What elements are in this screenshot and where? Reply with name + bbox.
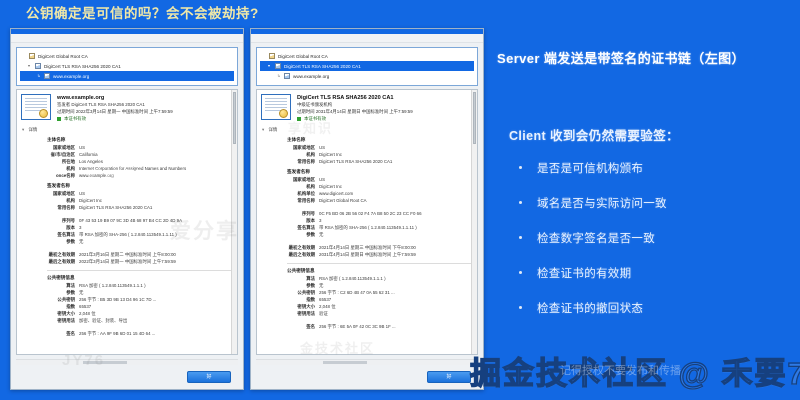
slide-title: 公钥确定是可信的吗？会不会被劫持? (26, 2, 259, 22)
tree-twisty-icon[interactable]: ▾ (28, 64, 32, 68)
certificate-common-name: www.example.org (57, 94, 232, 102)
detail-row: 公共密钥256 字节 : B5 3D 9B 13 D4 96 1C 7D ... (21, 296, 232, 303)
watermark-brand: 掘金技术社区 @ 禾要7夜宵 (470, 348, 800, 393)
tree-twisty-icon[interactable]: ↳ (37, 74, 41, 78)
detail-row: 签名256 字节 : AA 9F 9B 6D 01 15 4D 64 ... (21, 330, 232, 337)
certificate-issuer-line: 中级证书颁发机构 (297, 102, 472, 109)
detail-row: 指数65537 (261, 296, 472, 303)
detail-row: 最后之有效期2031年4月14日 星期日 中国标准时间 上午7:59:59 (261, 251, 472, 258)
list-item: 是否是可信机构颁布 (537, 160, 797, 176)
horizontal-scrollbar[interactable] (256, 359, 478, 365)
detail-row: 密钥用法验证 (261, 310, 472, 317)
vertical-scrollbar[interactable] (231, 90, 237, 354)
detail-row: 国家或地区US (261, 176, 472, 183)
detail-row: 序列号0C F5 BD 06 2B 56 02 F4 7A B8 50 2C 2… (261, 210, 472, 217)
detail-row: 参数无 (261, 231, 472, 238)
detail-row: 签名256 字节 : 6E 5A 0F 42 0C 3C 9B 1F ... (261, 323, 472, 330)
list-item: 检查数字签名是否一致 (537, 230, 797, 246)
certificate-seal-icon (21, 94, 51, 120)
divider (47, 270, 232, 271)
chain-node-intermediate-selected[interactable]: ▾ DigiCert TLS RSA SHA256 2020 CA1 (260, 61, 474, 71)
details-disclosure-right[interactable]: ▾ 详情 (262, 127, 472, 133)
chain-node-label: DigiCert Global Root CA (278, 54, 328, 59)
horizontal-scrollbar[interactable] (16, 359, 238, 365)
detail-row: 机构DigiCert Inc (261, 183, 472, 190)
detail-row: 国家或地区US (21, 190, 232, 197)
certificate-issuer-line: 签发者 DigiCert TLS RSA SHA256 2020 CA1 (57, 102, 232, 109)
certificate-expiry-line: 过期时间 2031年4月14日 星期日 中国标准时间 上午7:59:59 (297, 109, 472, 116)
group-title: 公共密钥信息 (21, 275, 232, 281)
group-title: 签发者名称 (21, 183, 232, 189)
detail-row: 公共密钥256 字节 : C2 6D 4B 47 0A 55 62 31 ... (261, 289, 472, 296)
certificate-detail-pane-right[interactable]: DigiCert TLS RSA SHA256 2020 CA1 中级证书颁发机… (256, 89, 478, 355)
certificate-summary: DigiCert TLS RSA SHA256 2020 CA1 中级证书颁发机… (261, 94, 472, 122)
detail-row: 版本3 (261, 217, 472, 224)
detail-row: 国家或地区US (261, 144, 472, 151)
detail-row: 常用名称DigiCert TLS RSA SHA256 2020 CA1 (261, 158, 472, 165)
ok-button[interactable]: 好 (187, 371, 231, 383)
detail-row: 参数无 (21, 289, 232, 296)
detail-row: 国家或地区US (21, 144, 232, 151)
certificate-expiry-line: 过期时间 2022年3月14日 星期一 中国标准时间 上午7:59:59 (57, 109, 232, 116)
bullet-icon (519, 306, 522, 309)
vertical-scrollbar[interactable] (471, 90, 477, 354)
bullet-icon (519, 166, 522, 169)
chain-node-leaf[interactable]: ↳ www.example.org (260, 71, 474, 81)
detail-row: 参数无 (21, 238, 232, 245)
list-item: 域名是否与实际访问一致 (537, 195, 797, 211)
certificate-icon (29, 53, 35, 59)
group-title: 签发者名称 (261, 169, 472, 175)
scrollbar-thumb[interactable] (473, 92, 476, 144)
chevron-down-icon: ▾ (22, 127, 24, 132)
certificate-seal-icon (261, 94, 291, 120)
tree-twisty-icon[interactable]: ▾ (268, 64, 272, 68)
detail-row: 签名算法带 RSA 加密的 SHA-256 ( 1.2.840.113549.1… (261, 224, 472, 231)
chain-node-label: www.example.org (293, 74, 329, 79)
dialog-footer: 好 (251, 365, 483, 389)
client-verify-subheading: Client 收到会仍然需要验签： (509, 125, 797, 144)
divider (287, 263, 472, 264)
detail-row: 最初之有效期2021年3月16日 星期二 中国标准时间 上午8:00:00 (21, 251, 232, 258)
group-title: 主体名称 (21, 137, 232, 143)
server-sends-chain-heading: Server 端发送是带签名的证书链（左图） (497, 48, 797, 67)
bullet-icon (519, 201, 522, 204)
chain-node-label: DigiCert TLS RSA SHA256 2020 CA1 (44, 64, 121, 69)
detail-row: 所在地Los Angeles (21, 158, 232, 165)
explanation-column: Server 端发送是带签名的证书链（左图） Client 收到会仍然需要验签：… (497, 48, 797, 335)
certificate-dialog-right[interactable]: DigiCert Global Root CA ▾ DigiCert TLS R… (250, 28, 484, 390)
detail-row: 参数无 (261, 282, 472, 289)
list-item: 检查证书的撤回状态 (537, 300, 797, 316)
chain-node-label: DigiCert TLS RSA SHA256 2020 CA1 (284, 64, 361, 69)
certificate-common-name: DigiCert TLS RSA SHA256 2020 CA1 (297, 94, 472, 102)
detail-row: 省/市/自治区California (21, 151, 232, 158)
detail-row: 序列号0F 43 53 19 B9 07 9C 3D 4B 68 97 B4 C… (21, 217, 232, 224)
detail-row: 密钥大小2,048 位 (21, 310, 232, 317)
certificate-icon (275, 63, 281, 69)
detail-row: 指数65537 (21, 303, 232, 310)
chain-node-intermediate[interactable]: ▾ DigiCert TLS RSA SHA256 2020 CA1 (20, 61, 234, 71)
watermark-notice: 记得授权不要发布和传播 (560, 362, 681, 378)
detail-row: 机构单位www.digicert.com (261, 190, 472, 197)
status-ok-icon (297, 117, 301, 121)
detail-row: once名称www.example.org (21, 172, 232, 179)
certificate-chain-tree-left[interactable]: DigiCert Global Root CA ▾ DigiCert TLS R… (16, 47, 238, 86)
detail-row: 常用名称DigiCert TLS RSA SHA256 2020 CA1 (21, 204, 232, 211)
dialog-footer: 好 (11, 365, 243, 389)
detail-row: 机构DigiCert Inc (261, 151, 472, 158)
certificate-summary: www.example.org 签发者 DigiCert TLS RSA SHA… (21, 94, 232, 122)
chain-node-label: DigiCert Global Root CA (38, 54, 88, 59)
detail-row: 版本3 (21, 224, 232, 231)
group-title: 公共密钥信息 (261, 268, 472, 274)
group-title: 主体名称 (261, 137, 472, 143)
detail-row: 算法RSA 加密 ( 1.2.840.113549.1.1.1 ) (21, 282, 232, 289)
chain-node-leaf-selected[interactable]: ↳ www.example.org (20, 71, 234, 81)
tree-twisty-icon[interactable]: ↳ (277, 74, 281, 78)
dialog-caption (251, 34, 483, 43)
detail-row: 机构Internet Corporation for Assigned Name… (21, 165, 232, 172)
certificate-status: 本证书有效 (297, 115, 472, 122)
chevron-down-icon: ▾ (262, 127, 264, 132)
detail-row: 签名算法带 RSA 加密的 SHA-256 ( 1.2.840.113549.1… (21, 231, 232, 238)
scrollbar-thumb[interactable] (83, 361, 127, 364)
detail-row: 算法RSA 加密 ( 1.2.840.113549.1.1.1 ) (261, 275, 472, 282)
certificate-dialog-left[interactable]: DigiCert Global Root CA ▾ DigiCert TLS R… (10, 28, 244, 390)
detail-row: 最后之有效期2022年3月14日 星期一 中国标准时间 上午7:59:59 (21, 258, 232, 265)
scrollbar-thumb[interactable] (323, 361, 367, 364)
certificate-status: 本证书有效 (57, 115, 232, 122)
details-disclosure-left[interactable]: ▾ 详情 (22, 127, 232, 133)
certificate-detail-pane-left[interactable]: www.example.org 签发者 DigiCert TLS RSA SHA… (16, 89, 238, 355)
certificate-chain-tree-right[interactable]: DigiCert Global Root CA ▾ DigiCert TLS R… (256, 47, 478, 86)
chain-node-root[interactable]: DigiCert Global Root CA (20, 51, 234, 61)
ok-button[interactable]: 好 (427, 371, 471, 383)
chain-node-label: www.example.org (53, 74, 89, 79)
list-item: 检查证书的有效期 (537, 265, 797, 281)
certificate-icon (284, 73, 290, 79)
detail-row: 机构DigiCert Inc (21, 197, 232, 204)
detail-row: 密钥大小2,048 位 (261, 303, 472, 310)
certificate-icon (269, 53, 275, 59)
bullet-icon (519, 271, 522, 274)
status-ok-icon (57, 117, 61, 121)
certificate-icon (35, 63, 41, 69)
bullet-icon (519, 236, 522, 239)
dialog-caption (11, 34, 243, 43)
certificate-icon (44, 73, 50, 79)
detail-row: 最初之有效期2021年4月14日 星期三 中国标准时间 下午8:00:00 (261, 244, 472, 251)
scrollbar-thumb[interactable] (233, 92, 236, 144)
chain-node-root[interactable]: DigiCert Global Root CA (260, 51, 474, 61)
detail-row: 常用名称DigiCert Global Root CA (261, 197, 472, 204)
verification-check-list: 是否是可信机构颁布 域名是否与实际访问一致 检查数字签名是否一致 检查证书的有效… (497, 160, 797, 316)
detail-row: 密钥用法加密、验证、封装、导出 (21, 317, 232, 324)
